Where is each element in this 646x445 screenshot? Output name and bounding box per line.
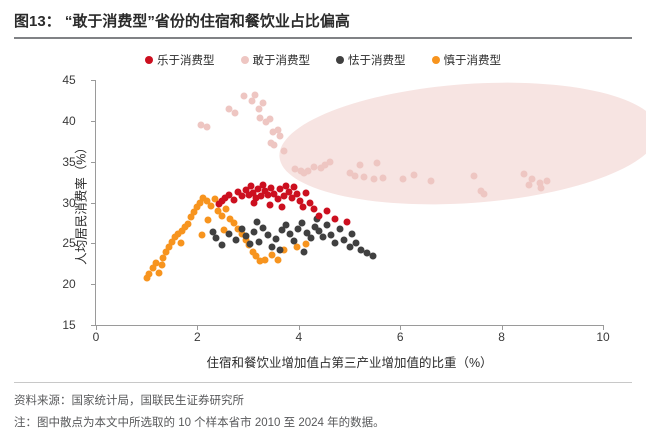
scatter-point [480,191,487,198]
scatter-point [271,142,278,149]
y-axis-tick-label: 25 [62,236,75,250]
scatter-point [199,232,206,239]
x-axis-tick-label: 4 [295,330,302,344]
legend-marker-icon [241,56,249,64]
scatter-point [304,168,311,175]
scatter-point [356,161,363,168]
y-axis-tick [91,243,96,244]
legend-marker-icon [145,56,153,64]
legend-marker-icon [336,56,344,64]
y-axis-tick-label: 15 [62,318,75,332]
scatter-point [343,219,350,226]
scatter-point [280,148,287,155]
scatter-point [369,252,376,259]
y-axis-tick-label: 20 [62,277,75,291]
scatter-point [521,170,528,177]
scatter-point [231,197,238,204]
scatter-point [351,172,358,179]
x-axis-tick-label: 0 [93,330,100,344]
scatter-point [249,98,256,105]
scatter-point [302,189,309,196]
y-axis-tick-label: 45 [62,73,75,87]
scatter-point [332,215,339,222]
scatter-point [231,109,238,116]
scatter-point [267,116,274,123]
scatter-point [399,175,406,182]
scatter-point [324,222,331,229]
scatter-point [544,178,551,185]
scatter-point [155,269,162,276]
scatter-point [299,203,306,210]
title-underline [14,37,632,39]
scatter-point [256,106,263,113]
scatter-point [300,248,307,255]
scatter-point [276,246,283,253]
y-axis-tick [91,203,96,204]
scatter-point [337,226,344,233]
x-axis-line [95,325,603,326]
scatter-point [323,207,330,214]
scatter-point [379,175,386,182]
scatter-point [265,232,272,239]
source-text: 资料来源：国家统计局，国联民生证券研究所 [14,390,632,412]
y-axis-tick-label: 40 [62,114,75,128]
scatter-point [360,174,367,181]
scatter-point [273,236,280,243]
scatter-point [298,219,305,226]
legend-item-2[interactable]: 怯于消费型 [336,52,406,68]
scatter-point [307,235,314,242]
scatter-point [290,237,297,244]
scatter-point [374,160,381,167]
scatter-point [274,257,281,264]
scatter-point [260,99,267,106]
scatter-point [267,201,274,208]
scatter-point [204,217,211,224]
x-axis-tick-label: 2 [194,330,201,344]
scatter-point [311,206,318,213]
x-axis-tick-label: 10 [596,330,609,344]
scatter-point [252,91,259,98]
scatter-point [269,243,276,250]
scatter-point [203,124,210,131]
y-axis-tick [91,121,96,122]
plot-area: 住宿和餐饮业增加值占第三产业增加值的比重（%） 人均居民消费率（%） 15202… [96,80,603,325]
scatter-point [225,230,232,237]
scatter-point [320,233,327,240]
chart-legend: 乐于消费型敢于消费型怯于消费型慎于消费型 [0,52,646,68]
scatter-point [247,241,254,248]
y-axis-tick-label: 35 [62,155,75,169]
scatter-point [218,241,225,248]
scatter-point [276,133,283,140]
scatter-point [538,184,545,191]
scatter-point [311,163,318,170]
scatter-point [291,166,298,173]
legend-item-1[interactable]: 敢于消费型 [241,52,311,68]
scatter-point [260,224,267,231]
legend-label: 敢于消费型 [253,52,311,68]
scatter-point [243,232,250,239]
scatter-point [411,171,418,178]
scatter-point [278,204,285,211]
scatter-point [316,212,323,219]
scatter-point [470,173,477,180]
scatter-point [349,230,356,237]
scatter-point [293,190,300,197]
y-axis-tick-label: 30 [62,196,75,210]
legend-item-3[interactable]: 慎于消费型 [432,52,502,68]
scatter-point [251,228,258,235]
scatter-point [218,197,225,204]
x-axis-tick-label: 8 [498,330,505,344]
legend-label: 乐于消费型 [157,52,215,68]
scatter-point [302,241,309,248]
highlight-ellipse [275,71,646,216]
y-axis-tick [91,284,96,285]
legend-label: 慎于消费型 [444,52,502,68]
legend-marker-icon [432,56,440,64]
scatter-point [526,182,533,189]
scatter-point [218,212,225,219]
scatter-point [328,232,335,239]
scatter-point [232,237,239,244]
scatter-point [146,271,153,278]
scatter-point [158,261,165,268]
x-axis-tick-label: 6 [397,330,404,344]
scatter-point [282,221,289,228]
legend-item-0[interactable]: 乐于消费型 [145,52,215,68]
scatter-point [262,256,269,263]
title-block: 图13： “敢于消费型”省份的住宿和餐饮业占比偏高 [0,10,646,31]
y-axis-tick [91,162,96,163]
scatter-point [239,225,246,232]
scatter-point [212,235,219,242]
legend-label: 怯于消费型 [348,52,406,68]
scatter-point [427,178,434,185]
footer-divider [14,382,632,383]
scatter-point [178,240,185,247]
scatter-point [341,237,348,244]
chart-page: 图13： “敢于消费型”省份的住宿和餐饮业占比偏高 乐于消费型敢于消费型怯于消费… [0,0,646,445]
scatter-point [207,202,214,209]
footer-block: 资料来源：国家统计局，国联民生证券研究所 注：图中散点为本文中所选取的 10 个… [14,390,632,434]
scatter-point [209,228,216,235]
scatter-point [222,206,229,213]
scatter-point [241,93,248,100]
scatter-point [254,219,261,226]
y-axis-tick [91,80,96,81]
scatter-point [327,158,334,165]
x-axis-title: 住宿和餐饮业增加值占第三产业增加值的比重（%） [96,352,603,371]
scatter-point [332,239,339,246]
note-text: 注：图中散点为本文中所选取的 10 个样本省市 2010 至 2024 年的数据… [14,412,632,434]
scatter-point [251,200,258,207]
scatter-point [185,220,192,227]
scatter-point [256,238,263,245]
scatter-point [370,175,377,182]
page-title: 图13： “敢于消费型”省份的住宿和餐饮业占比偏高 [0,10,646,31]
